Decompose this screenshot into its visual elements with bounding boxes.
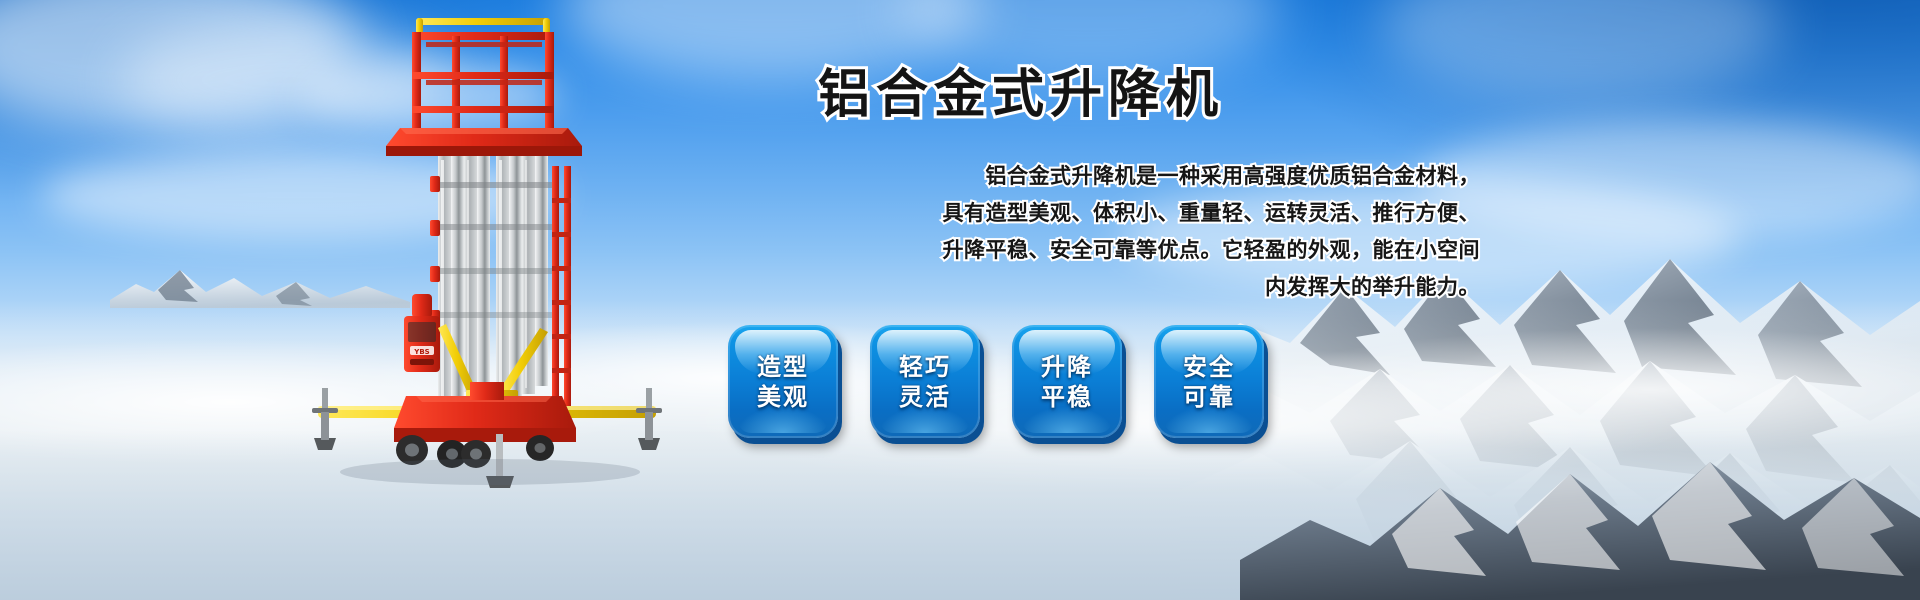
product-description: 铝合金式升降机是一种采用高强度优质铝合金材料， 具有造型美观、体积小、重量轻、运… [760, 158, 1480, 306]
product-image-aerial-lift: YBS [300, 10, 700, 490]
badge-line-2: 灵活 [899, 383, 951, 411]
feature-badge-smooth-lift[interactable]: 升降 平稳 [1012, 325, 1122, 438]
badge-line-1: 升降 [1041, 353, 1093, 381]
badge-line-2: 美观 [757, 383, 809, 411]
badge-line-1: 安全 [1183, 353, 1235, 381]
badge-line-2: 可靠 [1183, 383, 1235, 411]
badge-line-2: 平稳 [1041, 383, 1093, 411]
badge-line-1: 轻巧 [899, 353, 951, 381]
description-line: 升降平稳、安全可靠等优点。它轻盈的外观，能在小空间 [760, 232, 1480, 269]
page-title: 铝合金式升降机 [818, 52, 1224, 127]
promo-banner: YBS [0, 0, 1920, 600]
base-chassis [318, 382, 656, 442]
control-box: YBS [404, 294, 440, 372]
badge-line-1: 造型 [757, 353, 809, 381]
telescopic-mast [430, 156, 552, 406]
feature-badge-appearance[interactable]: 造型 美观 [728, 325, 838, 438]
platform-guardrail [386, 18, 582, 156]
machine-brand-text: YBS [413, 348, 429, 356]
feature-badge-lightweight[interactable]: 轻巧 灵活 [870, 325, 980, 438]
description-line: 具有造型美观、体积小、重量轻、运转灵活、推行方便、 [760, 195, 1480, 232]
side-guide-rail [552, 166, 571, 410]
feature-badge-safety[interactable]: 安全 可靠 [1154, 325, 1264, 438]
headline-text: 铝合金式升降机 [818, 65, 1224, 125]
feature-badge-list: 造型 美观 轻巧 灵活 升降 平稳 安全 可靠 [728, 325, 1264, 438]
description-line: 内发挥大的举升能力。 [760, 269, 1480, 306]
description-line: 铝合金式升降机是一种采用高强度优质铝合金材料， [760, 158, 1480, 195]
foreground-mountain [1240, 370, 1920, 600]
